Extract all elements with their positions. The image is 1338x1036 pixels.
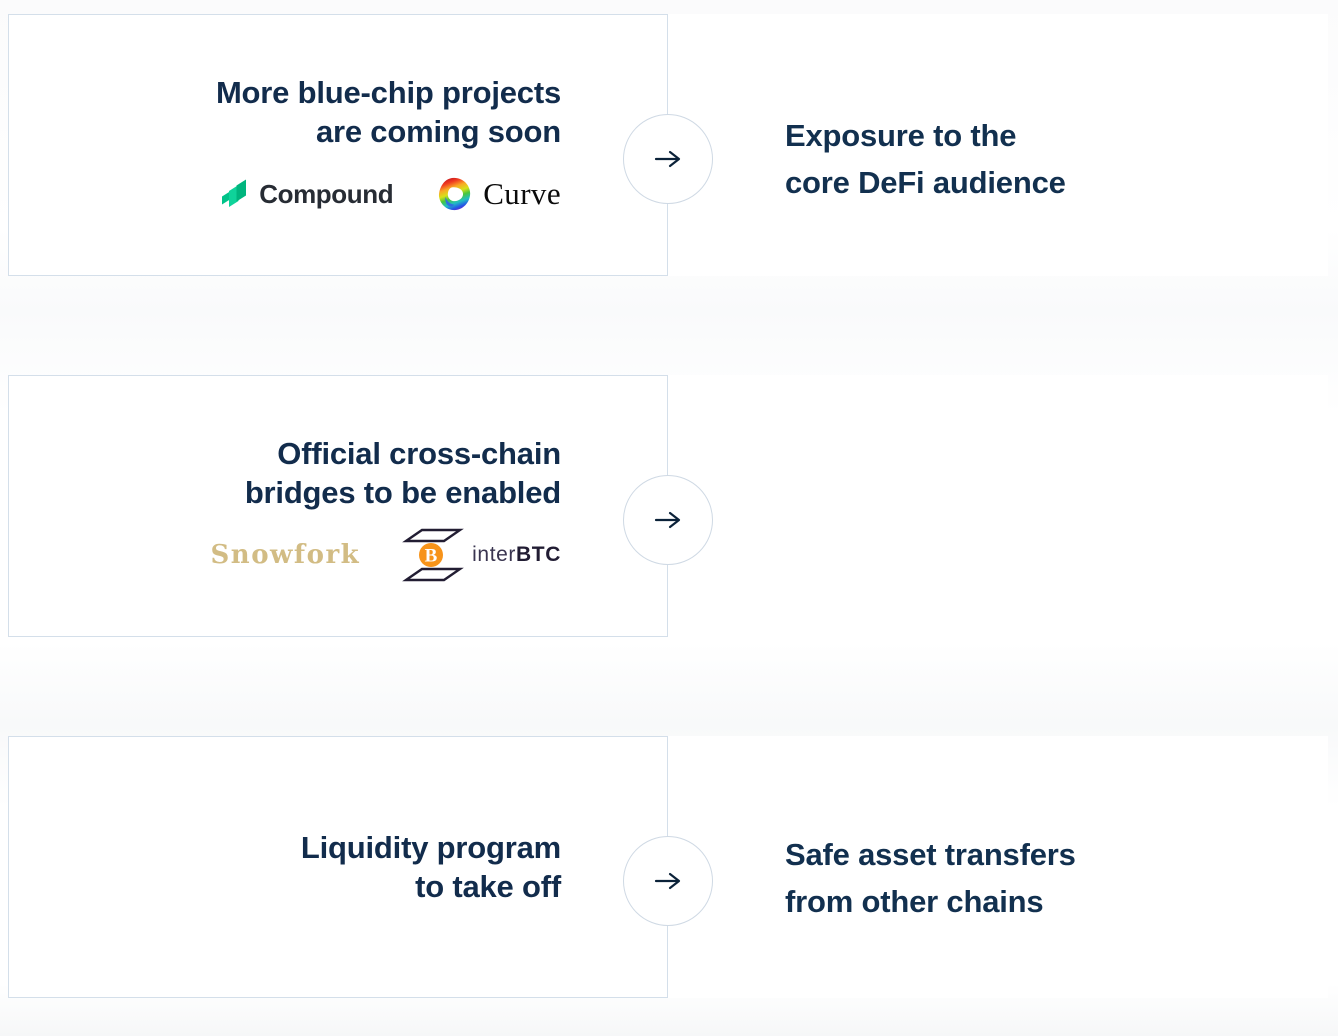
row-cross-chain-bridges: Official cross-chain bridges to be enabl… — [0, 375, 1338, 637]
logo-curve[interactable]: Curve — [435, 175, 561, 213]
svg-text:B: B — [425, 546, 438, 567]
row-blue-chip: More blue-chip projects are coming soon … — [0, 14, 1338, 276]
card-cross-chain-bridges[interactable]: Official cross-chain bridges to be enabl… — [8, 375, 668, 637]
caption-exposure: Exposure to the core DeFi audience — [785, 112, 1305, 206]
arrow-right-icon — [653, 870, 683, 892]
card-title: Official cross-chain bridges to be enabl… — [245, 434, 561, 512]
compound-logo-icon — [219, 177, 249, 211]
logo-strip: Snowfork B interBTC — [211, 532, 561, 578]
arrow-right-icon — [653, 509, 683, 531]
row-liquidity-program: Liquidity program to take off Injection … — [0, 736, 1338, 998]
curve-logo-label: Curve — [483, 176, 561, 212]
card-liquidity-program[interactable]: Liquidity program to take off — [8, 736, 668, 998]
card-title: More blue-chip projects are coming soon — [216, 73, 561, 151]
card-title: Liquidity program to take off — [301, 828, 561, 906]
interbtc-logo-icon: B — [402, 527, 468, 583]
compound-logo-label: Compound — [259, 179, 393, 210]
interbtc-label-bold: BTC — [516, 543, 561, 566]
curve-logo-icon — [435, 175, 473, 213]
arrow-badge-1[interactable] — [623, 114, 713, 204]
interbtc-label-thin: inter — [472, 543, 516, 566]
logo-strip: Compound — [219, 171, 561, 217]
logo-snowfork[interactable]: Snowfork — [211, 540, 361, 570]
arrow-badge-3[interactable] — [623, 836, 713, 926]
logo-compound[interactable]: Compound — [219, 177, 393, 211]
snowfork-logo-label: Snowfork — [211, 540, 361, 570]
arrow-right-icon — [653, 148, 683, 170]
interbtc-logo-label: interBTC — [472, 543, 561, 567]
logo-interbtc[interactable]: B interBTC — [402, 527, 561, 583]
arrow-badge-2[interactable] — [623, 475, 713, 565]
card-blue-chip[interactable]: More blue-chip projects are coming soon … — [8, 14, 668, 276]
